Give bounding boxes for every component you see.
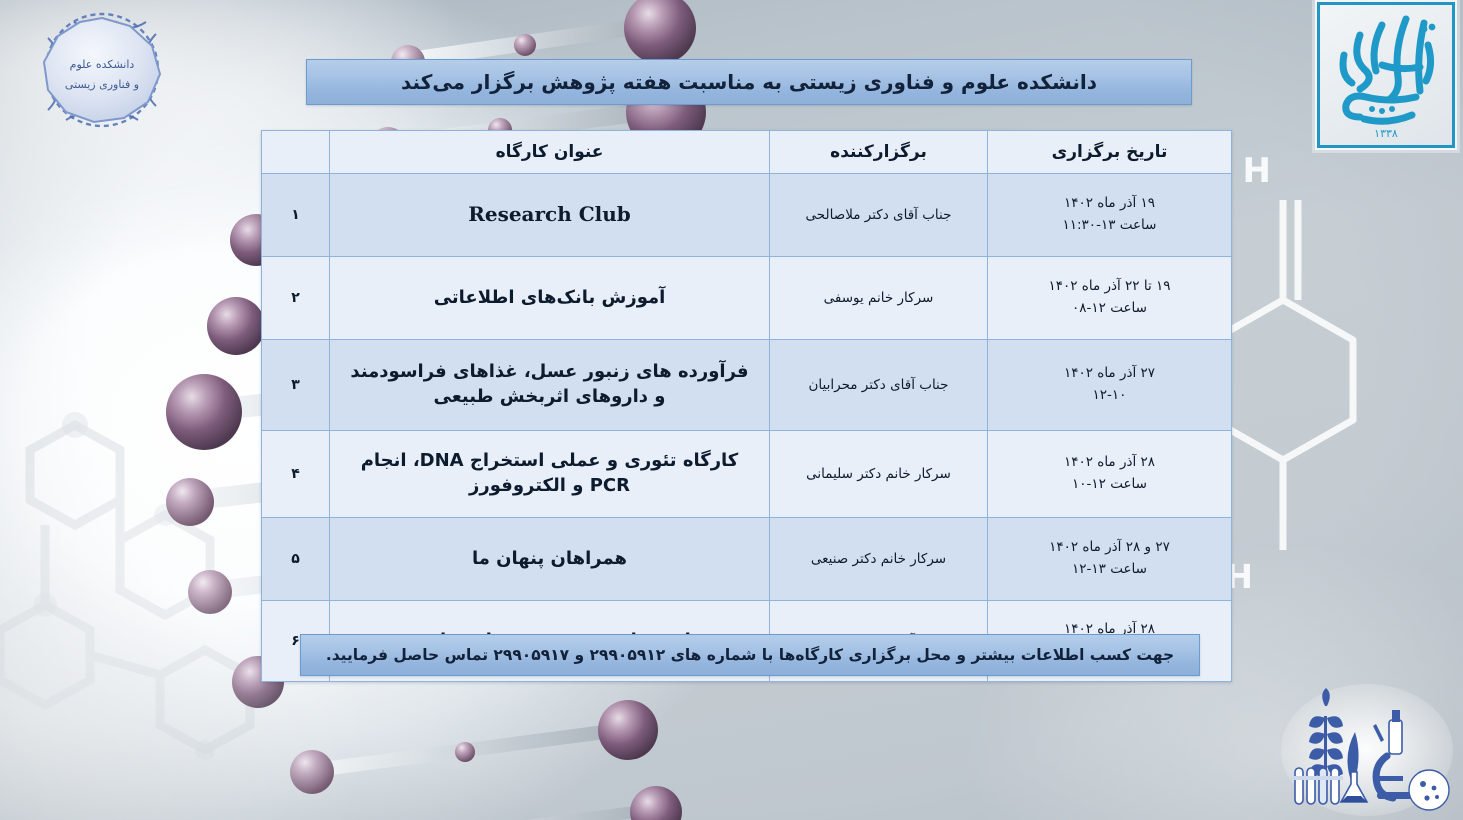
cell-organizer: سرکار خانم یوسفی — [770, 257, 988, 340]
cell-organizer: جناب آقای دکتر ملاصالحی — [770, 174, 988, 257]
cell-date: ۲۸ آذر ماه ۱۴۰۲ ساعت ۱۲-۱۰ — [988, 431, 1232, 518]
date-line-1: ۱۹ تا ۲۲ آذر ماه ۱۴۰۲ — [996, 276, 1223, 298]
footer-contact-banner: جهت کسب اطلاعات بیشتر و محل برگزاری کارگ… — [300, 634, 1200, 676]
university-year-label: ۱۳۳۸ — [1374, 127, 1398, 140]
table-header-row: تاریخ برگزاری برگزارکننده عنوان کارگاه — [262, 131, 1232, 174]
cell-row-number: ۲ — [262, 257, 330, 340]
cell-title: همراهان پنهان ما — [330, 518, 770, 601]
cell-title: Research Club — [330, 174, 770, 257]
column-header-organizer: برگزارکننده — [770, 131, 988, 174]
cell-row-number: ۵ — [262, 518, 330, 601]
cell-title: آموزش بانک‌های اطلاعاتی — [330, 257, 770, 340]
university-logo: ۱۳۳۸ — [1317, 2, 1455, 148]
cell-row-number: ۱ — [262, 174, 330, 257]
table-row: ۱۹ آذر ماه ۱۴۰۲ ساعت ۱۳-۱۱:۳۰ جناب آقای … — [262, 174, 1232, 257]
faculty-seal-logo: دانشکده علوم و فناوری زیستی — [14, 8, 190, 136]
table-row: ۲۷ و ۲۸ آذر ماه ۱۴۰۲ ساعت ۱۳-۱۲ سرکار خا… — [262, 518, 1232, 601]
date-line-2: ساعت ۱۲-۱۰ — [996, 474, 1223, 496]
table-row: ۱۹ تا ۲۲ آذر ماه ۱۴۰۲ ساعت ۱۲-۰۸ سرکار خ… — [262, 257, 1232, 340]
footer-banner-text: جهت کسب اطلاعات بیشتر و محل برگزاری کارگ… — [326, 646, 1174, 664]
poster-canvas: CH 3 H NH — [0, 0, 1463, 820]
seal-line-1: دانشکده علوم — [70, 58, 135, 71]
schedule-table-container: تاریخ برگزاری برگزارکننده عنوان کارگاه ۱… — [262, 130, 1232, 682]
cell-date: ۲۷ آذر ماه ۱۴۰۲ ۱۲-۱۰ — [988, 340, 1232, 431]
date-line-2: ساعت ۱۳-۱۲ — [996, 559, 1223, 581]
column-header-number — [262, 131, 330, 174]
seal-line-2: و فناوری زیستی — [65, 78, 139, 91]
biotech-illustration — [1277, 680, 1457, 816]
cell-organizer: جناب آقای دکتر محرابیان — [770, 340, 988, 431]
table-row: ۲۸ آذر ماه ۱۴۰۲ ساعت ۱۲-۱۰ سرکار خانم دک… — [262, 431, 1232, 518]
date-line-1: ۲۷ و ۲۸ آذر ماه ۱۴۰۲ — [996, 537, 1223, 559]
date-line-2: ساعت ۱۳-۱۱:۳۰ — [996, 215, 1223, 237]
column-header-title: عنوان کارگاه — [330, 131, 770, 174]
cell-row-number: ۴ — [262, 431, 330, 518]
column-header-date: تاریخ برگزاری — [988, 131, 1232, 174]
cell-title: فرآورده های زنبور عسل، غذاهای فراسودمند … — [330, 340, 770, 431]
cell-organizer: سرکار خانم دکتر سلیمانی — [770, 431, 988, 518]
header-banner: دانشکده علوم و فناوری زیستی به مناسبت هف… — [306, 59, 1192, 105]
date-line-1: ۲۷ آذر ماه ۱۴۰۲ — [996, 363, 1223, 385]
cell-row-number: ۳ — [262, 340, 330, 431]
date-line-1: ۲۸ آذر ماه ۱۴۰۲ — [996, 452, 1223, 474]
table-row: ۲۷ آذر ماه ۱۴۰۲ ۱۲-۱۰ جناب آقای دکتر محر… — [262, 340, 1232, 431]
cell-date: ۲۷ و ۲۸ آذر ماه ۱۴۰۲ ساعت ۱۳-۱۲ — [988, 518, 1232, 601]
date-line-2: ساعت ۱۲-۰۸ — [996, 298, 1223, 320]
date-line-2: ۱۲-۱۰ — [996, 385, 1223, 407]
header-banner-text: دانشکده علوم و فناوری زیستی به مناسبت هف… — [401, 70, 1097, 94]
date-line-1: ۱۹ آذر ماه ۱۴۰۲ — [996, 193, 1223, 215]
workshop-schedule-table: تاریخ برگزاری برگزارکننده عنوان کارگاه ۱… — [261, 130, 1232, 682]
cell-date: ۱۹ آذر ماه ۱۴۰۲ ساعت ۱۳-۱۱:۳۰ — [988, 174, 1232, 257]
cell-title: کارگاه تئوری و عملی استخراج DNA، انجام P… — [330, 431, 770, 518]
cell-organizer: سرکار خانم دکتر صنیعی — [770, 518, 988, 601]
cell-date: ۱۹ تا ۲۲ آذر ماه ۱۴۰۲ ساعت ۱۲-۰۸ — [988, 257, 1232, 340]
